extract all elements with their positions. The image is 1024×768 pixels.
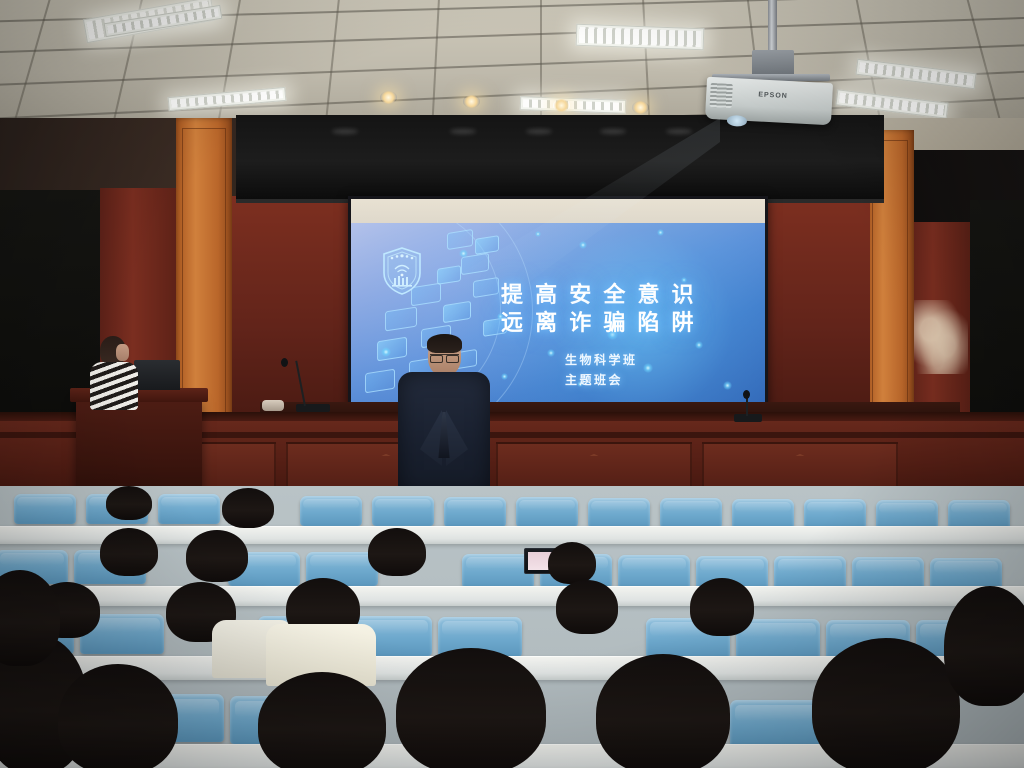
student (596, 654, 730, 768)
projector-mount-pole (768, 0, 777, 52)
student (0, 570, 60, 666)
student (556, 580, 618, 634)
woman-at-podium (86, 336, 144, 408)
glasses-icon (430, 354, 459, 360)
presenter-hair (427, 334, 462, 353)
seat[interactable] (732, 499, 794, 529)
student (812, 638, 960, 768)
desk-papers (262, 400, 284, 411)
seat[interactable] (516, 497, 578, 527)
stage-side-panel-left (232, 196, 352, 412)
ceiling-downlight (380, 91, 397, 104)
student (222, 488, 274, 528)
conference-microphone-base (734, 414, 762, 422)
screen-valance (236, 115, 884, 203)
seat[interactable] (372, 496, 434, 526)
seat[interactable] (588, 498, 650, 528)
projector-mount-bracket (752, 50, 794, 76)
student (186, 530, 248, 582)
presenter-suit (398, 372, 490, 496)
slide-subtitle-line1: 生物科学班 (565, 351, 765, 371)
slide-headline: 提 高 安 全 意 识 远 离 诈 骗 陷 阱 (501, 281, 761, 337)
stage-side-panel-right (766, 196, 870, 412)
slide-subtitle: 生物科学班 主题班会 (565, 351, 765, 391)
lecture-hall-photo: 提 高 安 全 意 识 远 离 诈 骗 陷 阱 生物科学班 主题班会 EPSON (0, 0, 1024, 768)
student (548, 542, 596, 584)
conference-microphone-head (743, 390, 750, 399)
student (944, 586, 1024, 706)
seat[interactable] (774, 556, 846, 590)
bokeh-dot (535, 231, 541, 237)
police-badge-icon (379, 245, 425, 297)
woman-face (116, 344, 129, 361)
bokeh-dot (501, 373, 508, 380)
student (106, 486, 152, 520)
student (396, 648, 546, 768)
presenter-speaker (398, 336, 490, 496)
seat[interactable] (158, 494, 220, 524)
bokeh-dot (381, 347, 391, 357)
seat[interactable] (618, 555, 690, 589)
door-scuff-marks (914, 300, 968, 374)
ceiling-downlight (463, 95, 480, 108)
projector-brand-label: EPSON (758, 91, 788, 100)
gooseneck-microphone-base (296, 404, 330, 412)
seat[interactable] (804, 499, 866, 529)
ceiling (0, 0, 1024, 132)
desk-surface (0, 586, 1024, 606)
bokeh-dot (579, 241, 587, 249)
seat[interactable] (660, 498, 722, 528)
student (258, 672, 386, 768)
slide-headline-line1: 提 高 安 全 意 识 (501, 281, 761, 309)
slide-subtitle-line2: 主题班会 (565, 371, 765, 391)
seat[interactable] (300, 496, 362, 526)
gooseneck-microphone-head (281, 358, 288, 367)
student (100, 528, 158, 576)
auditorium-seating (0, 486, 1024, 768)
bokeh-dot (695, 341, 703, 349)
seat[interactable] (444, 497, 506, 527)
bokeh-dot (459, 249, 468, 258)
bokeh-dot (657, 229, 664, 236)
ceiling-downlight (553, 99, 570, 112)
student (690, 578, 754, 636)
projector-vent-icon (710, 83, 733, 108)
student (368, 528, 426, 576)
woman-striped-top (90, 362, 138, 410)
bokeh-dot (547, 349, 555, 357)
slide-headline-line2: 远 离 诈 骗 陷 阱 (501, 309, 761, 337)
projector: EPSON (705, 77, 833, 126)
seat[interactable] (14, 494, 76, 524)
ceiling-downlight (632, 101, 649, 114)
ceiling-panel-light (576, 24, 705, 50)
student (58, 664, 178, 768)
